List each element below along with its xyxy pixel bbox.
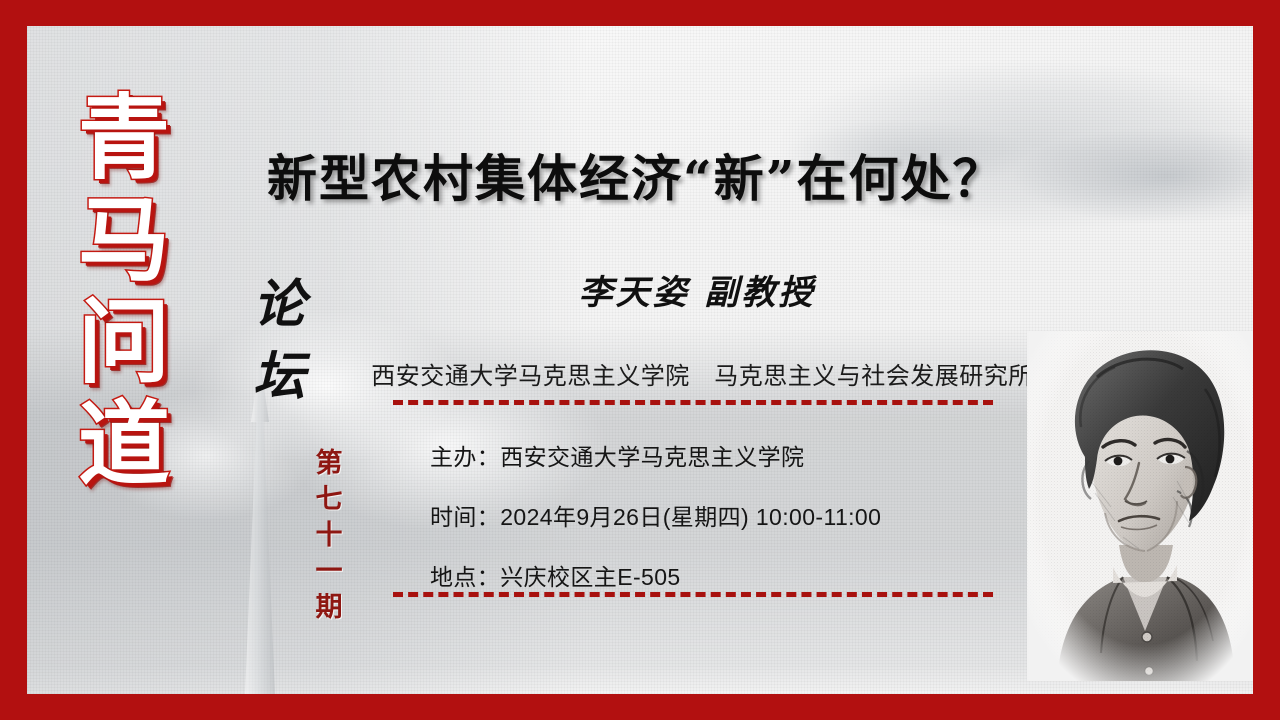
issue-char-1: 第 — [316, 446, 343, 482]
forum-char-1: 论 — [253, 269, 305, 341]
lecture-title: 新型农村集体经济“新”在何处？ — [267, 139, 1157, 211]
brand-char-4: 道 — [78, 394, 170, 496]
forum-label-vertical: 论 坛 — [240, 269, 318, 413]
divider-top-dashed — [393, 400, 993, 405]
forum-char-2: 坛 — [253, 341, 305, 413]
speaker-name: 李天姿 副教授 — [387, 265, 1007, 314]
brand-title-vertical: 青 马 问 道 — [59, 88, 189, 496]
detail-value-organizer: 西安交通大学马克思主义学院 — [500, 444, 804, 470]
issue-char-5: 期 — [316, 590, 343, 626]
marx-portrait-svg — [1027, 331, 1253, 681]
event-details: 主办：西安交通大学马克思主义学院 时间：2024年9月26日(星期四) 10:0… — [430, 438, 1030, 592]
detail-row-time: 时间：2024年9月26日(星期四) 10:00-11:00 — [430, 498, 1030, 532]
detail-row-organizer: 主办：西安交通大学马克思主义学院 — [430, 438, 1030, 472]
marx-portrait-sketch — [1027, 331, 1253, 681]
monument-shaft — [245, 394, 275, 694]
detail-value-time: 2024年9月26日(星期四) 10:00-11:00 — [500, 504, 881, 530]
poster-canvas: 青 马 问 道 论 坛 第 七 十 一 期 新型农村集体经济“新”在何处？ 李天… — [27, 26, 1253, 694]
detail-row-location: 地点：兴庆校区主E-505 — [430, 558, 1030, 592]
poster-root: 青 马 问 道 论 坛 第 七 十 一 期 新型农村集体经济“新”在何处？ 李天… — [0, 0, 1280, 720]
detail-value-location: 兴庆校区主E-505 — [500, 564, 680, 590]
detail-label-time: 时间： — [430, 504, 500, 530]
issue-number-vertical: 第 七 十 一 期 — [308, 446, 350, 626]
brand-char-1: 青 — [78, 88, 170, 190]
brand-char-3: 问 — [78, 292, 170, 394]
issue-char-4: 一 — [316, 554, 343, 590]
brand-char-2: 马 — [78, 190, 170, 292]
issue-char-3: 十 — [316, 518, 343, 554]
issue-char-2: 七 — [316, 482, 343, 518]
monument-silhouette-decoration — [205, 364, 315, 694]
divider-bottom-dashed — [393, 592, 993, 597]
detail-label-location: 地点： — [430, 564, 500, 590]
detail-label-organizer: 主办： — [430, 444, 500, 470]
speaker-affiliation: 西安交通大学马克思主义学院 马克思主义与社会发展研究所 — [357, 356, 1047, 391]
